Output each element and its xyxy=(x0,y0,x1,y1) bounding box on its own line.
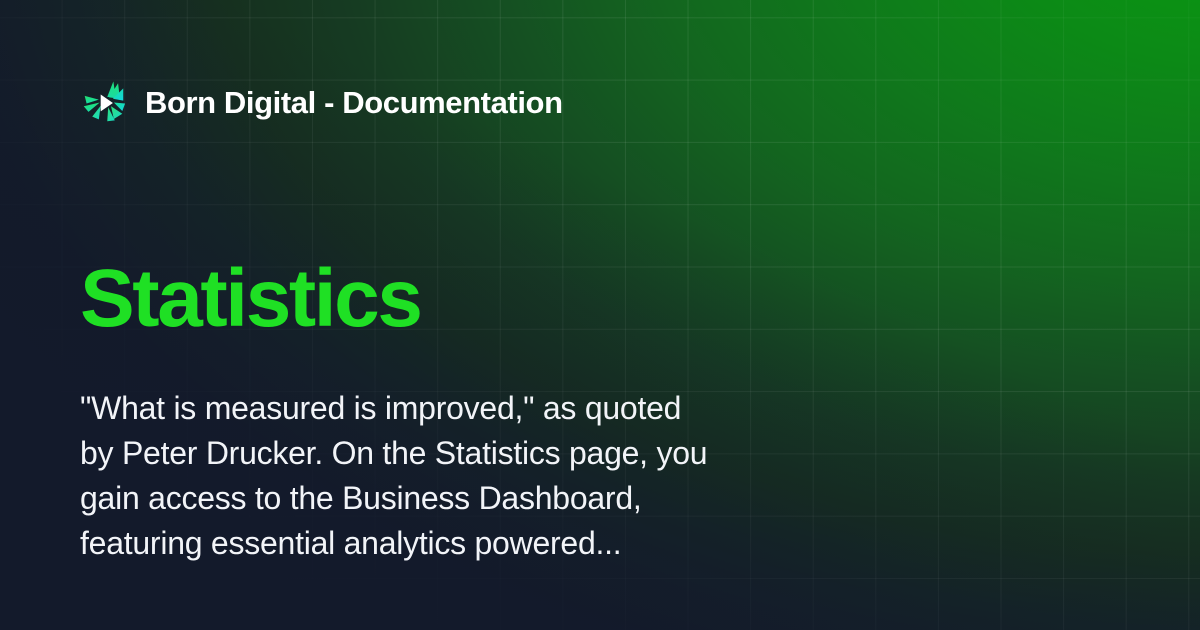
page-description: "What is measured is improved," as quote… xyxy=(80,386,880,566)
brand-title: Born Digital - Documentation xyxy=(145,87,563,118)
description-line: gain access to the Business Dashboard, xyxy=(80,476,880,521)
page-title: Statistics xyxy=(80,258,421,340)
description-line: by Peter Drucker. On the Statistics page… xyxy=(80,431,880,476)
description-line: featuring essential analytics powered... xyxy=(80,521,880,566)
og-card: Born Digital - Documentation Statistics … xyxy=(0,0,1200,630)
card-content: Born Digital - Documentation Statistics … xyxy=(0,0,1200,630)
description-line: "What is measured is improved," as quote… xyxy=(80,386,880,431)
brand-header: Born Digital - Documentation xyxy=(80,79,563,125)
born-digital-logo-icon xyxy=(80,79,127,126)
